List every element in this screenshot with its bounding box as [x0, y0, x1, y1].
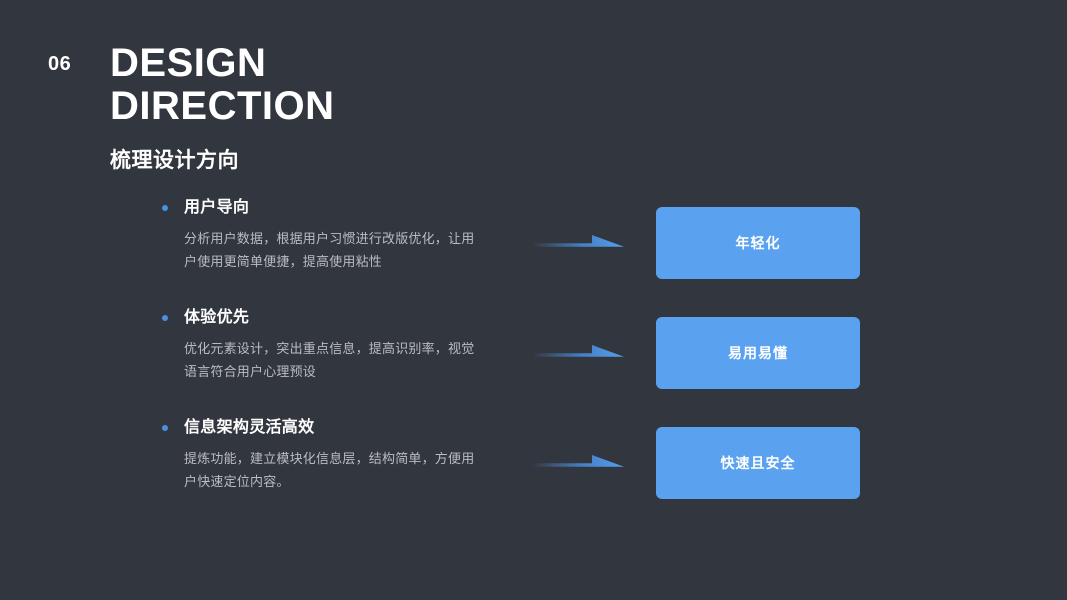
- outcome-pill[interactable]: 年轻化: [656, 207, 860, 279]
- arrow-right-icon: [532, 449, 628, 473]
- arrow-connector: [532, 449, 628, 473]
- bullet-dot-icon: [162, 315, 168, 321]
- outcome-pill-label: 易用易懂: [728, 346, 788, 360]
- arrow-right-icon: [532, 339, 628, 363]
- bullet-heading: 体验优先: [184, 308, 249, 327]
- outcome-pill[interactable]: 快速且安全: [656, 427, 860, 499]
- row-text-column: 信息架构灵活高效 提炼功能，建立模块化信息层，结构简单，方便用户快速定位内容。: [162, 417, 492, 494]
- bullet-heading: 用户导向: [184, 198, 249, 217]
- outcome-pill[interactable]: 易用易懂: [656, 317, 860, 389]
- bullet-line: 信息架构灵活高效: [162, 417, 492, 439]
- outcome-pill-label: 快速且安全: [721, 456, 796, 470]
- content-rows: 用户导向 分析用户数据，根据用户习惯进行改版优化，让用户使用更简单便捷，提高使用…: [0, 0, 1067, 600]
- bullet-description: 优化元素设计，突出重点信息，提高识别率，视觉语言符合用户心理预设: [184, 338, 484, 384]
- content-row: 信息架构灵活高效 提炼功能，建立模块化信息层，结构简单，方便用户快速定位内容。: [0, 417, 1067, 527]
- row-text-column: 体验优先 优化元素设计，突出重点信息，提高识别率，视觉语言符合用户心理预设: [162, 307, 492, 384]
- bullet-dot-icon: [162, 425, 168, 431]
- bullet-line: 用户导向: [162, 197, 492, 219]
- slide-canvas: 06 DESIGN DIRECTION 梳理设计方向 用户导向 分析用户数据，根…: [0, 0, 1067, 600]
- bullet-dot-icon: [162, 205, 168, 211]
- bullet-description: 提炼功能，建立模块化信息层，结构简单，方便用户快速定位内容。: [184, 448, 484, 494]
- arrow-connector: [532, 229, 628, 253]
- row-text-column: 用户导向 分析用户数据，根据用户习惯进行改版优化，让用户使用更简单便捷，提高使用…: [162, 197, 492, 274]
- bullet-line: 体验优先: [162, 307, 492, 329]
- arrow-right-icon: [532, 229, 628, 253]
- content-row: 体验优先 优化元素设计，突出重点信息，提高识别率，视觉语言符合用户心理预设: [0, 307, 1067, 417]
- arrow-connector: [532, 339, 628, 363]
- outcome-pill-label: 年轻化: [736, 236, 781, 250]
- content-row: 用户导向 分析用户数据，根据用户习惯进行改版优化，让用户使用更简单便捷，提高使用…: [0, 197, 1067, 307]
- bullet-heading: 信息架构灵活高效: [184, 418, 314, 437]
- bullet-description: 分析用户数据，根据用户习惯进行改版优化，让用户使用更简单便捷，提高使用粘性: [184, 228, 484, 274]
